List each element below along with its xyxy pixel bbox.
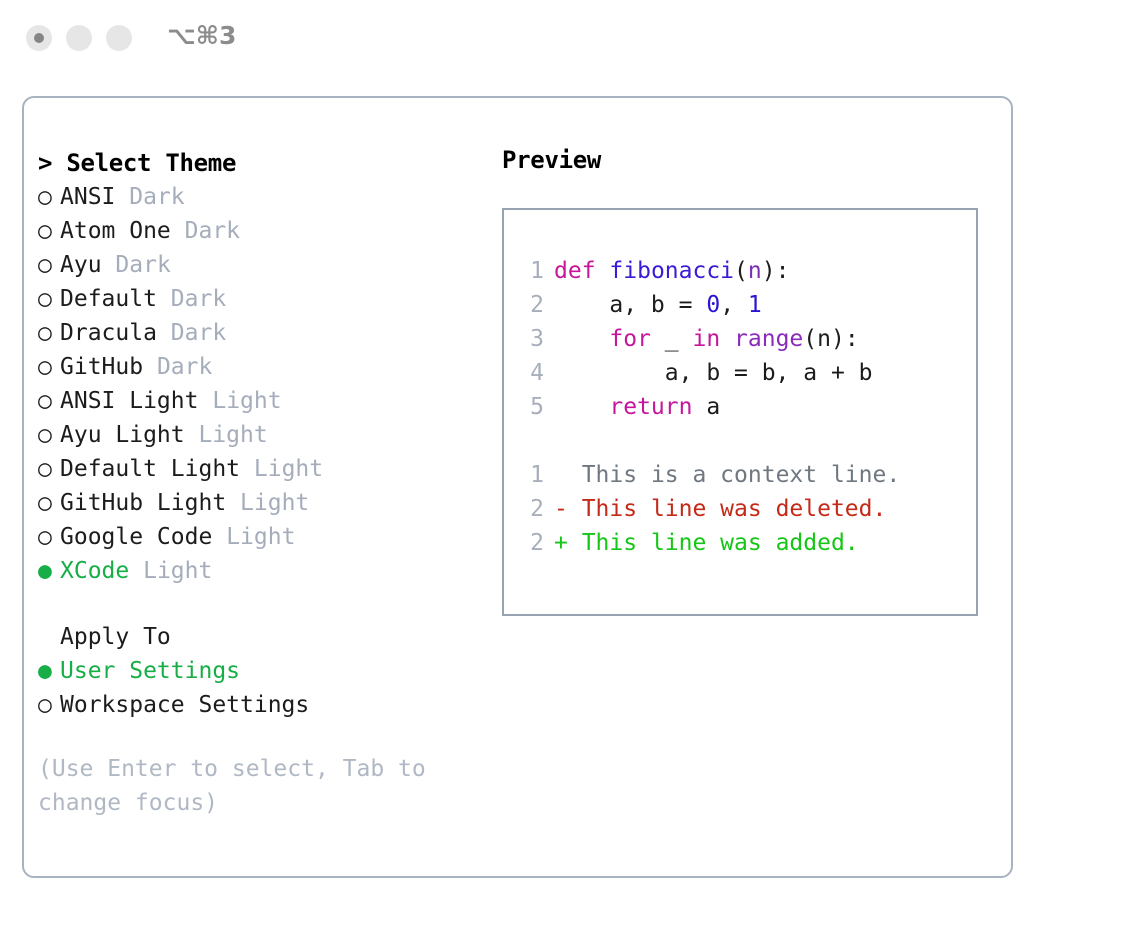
theme-list-item[interactable]: ○Dracula Dark xyxy=(38,316,498,350)
diff-text: This is a context line. xyxy=(582,462,901,488)
radio-selected-icon: ● xyxy=(38,654,60,688)
theme-name: XCode xyxy=(60,558,129,584)
keyboard-shortcut-label: ⌥⌘3 xyxy=(167,21,236,50)
spacer xyxy=(157,286,171,312)
code-line: 1def fibonacci(n): xyxy=(518,254,968,288)
code-token: in xyxy=(692,326,720,352)
diff-marker xyxy=(554,462,582,488)
spacer xyxy=(212,524,226,550)
apply-to-item[interactable]: ●User Settings xyxy=(38,654,498,688)
theme-name: Atom One xyxy=(60,218,171,244)
spacer xyxy=(198,388,212,414)
preview-title: Preview xyxy=(502,146,1002,174)
theme-name: Dracula xyxy=(60,320,157,346)
traffic-light-minimize[interactable] xyxy=(66,25,92,51)
radio-unselected-icon: ○ xyxy=(38,688,60,722)
code-token: n xyxy=(748,258,762,284)
spacer xyxy=(143,354,157,380)
radio-unselected-icon: ○ xyxy=(38,214,60,248)
spacer xyxy=(115,184,129,210)
theme-name: Google Code xyxy=(60,524,212,550)
code-token: a, b = b, a + b xyxy=(554,360,873,386)
theme-name: Default Light xyxy=(60,456,240,482)
theme-variant-badge: Light xyxy=(226,524,295,550)
apply-to-indent-spacer xyxy=(38,620,60,654)
spacer xyxy=(102,252,116,278)
active-indicator-dot xyxy=(34,33,44,43)
code-diff-separator xyxy=(518,424,968,458)
code-token xyxy=(720,326,734,352)
radio-unselected-icon: ○ xyxy=(38,180,60,214)
code-token: 1 xyxy=(748,292,762,318)
theme-picker-header: > Select Theme xyxy=(38,146,498,180)
diff-text: This line was deleted. xyxy=(582,496,887,522)
theme-variant-badge: Dark xyxy=(185,218,240,244)
theme-list-item[interactable]: ○Ayu Dark xyxy=(38,248,498,282)
main-panel: > Select Theme ○ANSI Dark○Atom One Dark○… xyxy=(22,96,1013,878)
code-token xyxy=(596,258,610,284)
radio-unselected-icon: ○ xyxy=(38,418,60,452)
code-token: _ xyxy=(651,326,693,352)
theme-variant-badge: Light xyxy=(240,490,309,516)
traffic-light-close[interactable] xyxy=(26,25,52,51)
theme-list-item[interactable]: ●XCode Light xyxy=(38,554,498,588)
line-number: 2 xyxy=(518,288,544,322)
code-token xyxy=(554,394,609,420)
line-number: 4 xyxy=(518,356,544,390)
keyboard-hint: (Use Enter to select, Tab to change focu… xyxy=(38,752,458,820)
theme-variant-badge: Dark xyxy=(157,354,212,380)
theme-variant-badge: Light xyxy=(254,456,323,482)
apply-to-label: Apply To xyxy=(38,620,498,654)
code-token: ): xyxy=(762,258,790,284)
spacer xyxy=(240,456,254,482)
theme-name: GitHub Light xyxy=(60,490,226,516)
theme-name: ANSI xyxy=(60,184,115,210)
spacer xyxy=(157,320,171,346)
radio-unselected-icon: ○ xyxy=(38,384,60,418)
radio-unselected-icon: ○ xyxy=(38,316,60,350)
diff-line: 1 This is a context line. xyxy=(518,458,968,492)
radio-unselected-icon: ○ xyxy=(38,248,60,282)
spacer xyxy=(185,422,199,448)
code-token: return xyxy=(609,394,692,420)
code-line: 2 a, b = 0, 1 xyxy=(518,288,968,322)
code-token: a, b = xyxy=(554,292,706,318)
diff-sample: 1 This is a context line.2- This line wa… xyxy=(518,458,968,560)
radio-selected-icon: ● xyxy=(38,554,60,588)
apply-to-option-label: User Settings xyxy=(60,658,240,684)
code-token: (n): xyxy=(803,326,858,352)
line-number: 2 xyxy=(518,526,544,560)
preview-box: 1def fibonacci(n):2 a, b = 0, 13 for _ i… xyxy=(502,208,978,616)
theme-list-item[interactable]: ○ANSI Light Light xyxy=(38,384,498,418)
code-token: a xyxy=(692,394,720,420)
radio-unselected-icon: ○ xyxy=(38,452,60,486)
line-number: 2 xyxy=(518,492,544,526)
code-preview: 1def fibonacci(n):2 a, b = 0, 13 for _ i… xyxy=(518,254,968,560)
diff-marker: - xyxy=(554,496,582,522)
spacer xyxy=(171,218,185,244)
theme-name: GitHub xyxy=(60,354,143,380)
apply-to-list: ●User Settings○Workspace Settings xyxy=(38,654,498,722)
theme-list-item[interactable]: ○Default Dark xyxy=(38,282,498,316)
theme-list-item[interactable]: ○Atom One Dark xyxy=(38,214,498,248)
theme-name: Default xyxy=(60,286,157,312)
theme-variant-badge: Light xyxy=(198,422,267,448)
theme-picker-column: > Select Theme ○ANSI Dark○Atom One Dark○… xyxy=(38,146,498,820)
code-token xyxy=(554,326,609,352)
prompt-caret-icon: > xyxy=(38,149,66,177)
theme-name: ANSI Light xyxy=(60,388,198,414)
code-line: 4 a, b = b, a + b xyxy=(518,356,968,390)
radio-unselected-icon: ○ xyxy=(38,350,60,384)
app-window: ⌥⌘3 > Select Theme ○ANSI Dark○Atom One D… xyxy=(0,0,1140,934)
theme-picker-header-label: Select Theme xyxy=(66,149,236,177)
apply-to-item[interactable]: ○Workspace Settings xyxy=(38,688,498,722)
theme-list-item[interactable]: ○Ayu Light Light xyxy=(38,418,498,452)
code-token: ( xyxy=(734,258,748,284)
diff-line: 2- This line was deleted. xyxy=(518,492,968,526)
apply-to-section: Apply To ●User Settings○Workspace Settin… xyxy=(38,620,498,722)
code-token: 0 xyxy=(706,292,720,318)
theme-list-item[interactable]: ○ANSI Dark xyxy=(38,180,498,214)
traffic-light-maximize[interactable] xyxy=(106,25,132,51)
radio-unselected-icon: ○ xyxy=(38,282,60,316)
diff-line: 2+ This line was added. xyxy=(518,526,968,560)
code-token: def xyxy=(554,258,596,284)
theme-list-item[interactable]: ○Google Code Light xyxy=(38,520,498,554)
line-number: 3 xyxy=(518,322,544,356)
preview-column: Preview 1def fibonacci(n):2 a, b = 0, 13… xyxy=(502,146,1002,616)
radio-unselected-icon: ○ xyxy=(38,520,60,554)
theme-variant-badge: Dark xyxy=(115,252,170,278)
theme-variant-badge: Dark xyxy=(171,286,226,312)
code-sample: 1def fibonacci(n):2 a, b = 0, 13 for _ i… xyxy=(518,254,968,424)
code-token: fibonacci xyxy=(609,258,734,284)
code-token: for xyxy=(609,326,651,352)
theme-list-item[interactable]: ○GitHub Dark xyxy=(38,350,498,384)
diff-marker: + xyxy=(554,530,582,556)
theme-name: Ayu xyxy=(60,252,102,278)
spacer xyxy=(129,558,143,584)
theme-list-item[interactable]: ○GitHub Light Light xyxy=(38,486,498,520)
code-token: range xyxy=(734,326,803,352)
line-number: 1 xyxy=(518,458,544,492)
theme-variant-badge: Light xyxy=(212,388,281,414)
line-number: 5 xyxy=(518,390,544,424)
radio-unselected-icon: ○ xyxy=(38,486,60,520)
apply-to-label-text: Apply To xyxy=(60,624,171,650)
theme-variant-badge: Dark xyxy=(171,320,226,346)
code-line: 5 return a xyxy=(518,390,968,424)
code-token: , xyxy=(720,292,748,318)
theme-variant-badge: Dark xyxy=(129,184,184,210)
spacer xyxy=(226,490,240,516)
theme-list-item[interactable]: ○Default Light Light xyxy=(38,452,498,486)
code-line: 3 for _ in range(n): xyxy=(518,322,968,356)
apply-to-option-label: Workspace Settings xyxy=(60,692,309,718)
title-bar: ⌥⌘3 xyxy=(0,0,1140,78)
theme-list: ○ANSI Dark○Atom One Dark○Ayu Dark○Defaul… xyxy=(38,180,498,588)
diff-text: This line was added. xyxy=(582,530,859,556)
theme-name: Ayu Light xyxy=(60,422,185,448)
line-number: 1 xyxy=(518,254,544,288)
theme-variant-badge: Light xyxy=(143,558,212,584)
